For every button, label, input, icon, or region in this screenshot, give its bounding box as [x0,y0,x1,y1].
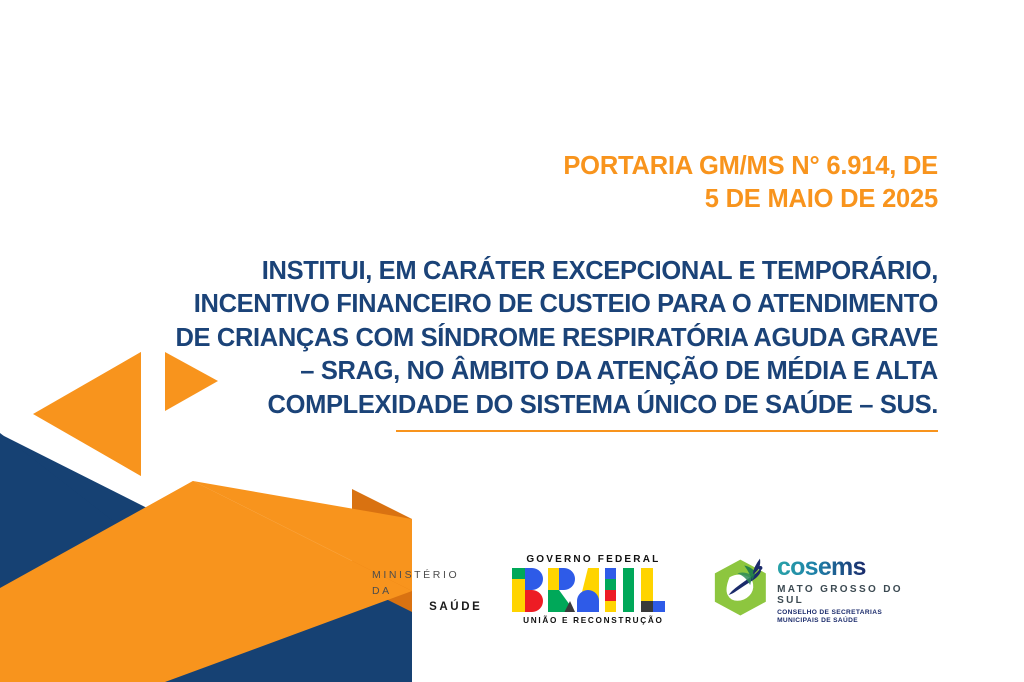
orange-band-left [0,481,352,682]
slide-canvas: PORTARIA GM/MS N° 6.914, DE 5 DE MAIO DE… [0,0,1024,682]
svg-text:cosems: cosems [777,553,866,581]
divider-rule [396,430,938,432]
triangle-left-large [34,352,141,476]
navy-diagonal-wedge [0,434,186,607]
document-summary: INSTITUI, EM CARÁTER EXCEPCIONAL E TEMPO… [150,217,938,423]
triangle-left-large-body [33,352,141,476]
government-federal-logo: GOVERNO FEDERAL [512,554,674,625]
government-logo-bottom-label: UNIÃO E RECONSTRUÇÃO [523,616,663,625]
page-title: PORTARIA GM/MS N° 6.914, DE 5 DE MAIO DE… [150,150,938,217]
text-block: PORTARIA GM/MS N° 6.914, DE 5 DE MAIO DE… [150,150,938,422]
navy-diagonal-wedge-upper [0,434,300,585]
cosems-text-group: cosems MATO GROSSO DO SUL CONSELHO DE SE… [777,553,932,626]
footer-logos: MINISTÉRIO DA SAÚDE GOVERNO FEDERAL [372,534,932,644]
government-logo-top-label: GOVERNO FEDERAL [526,554,660,565]
ministry-logo-line2: SAÚDE [429,599,482,617]
cosems-description: CONSELHO DE SECRETARIAS MUNICIPAIS DE SA… [777,609,932,626]
cosems-wordmark-icon: cosems [777,553,895,583]
ministry-of-health-logo: MINISTÉRIO DA SAÚDE [372,567,482,617]
navy-arrow-base [80,597,412,682]
navy-arrow-base-right [78,601,412,682]
brasil-wordmark-icon [512,568,674,612]
orange-isometric-band [0,481,412,682]
cosems-logo: cosems MATO GROSSO DO SUL CONSELHO DE SE… [708,553,932,626]
hexagon-bird-map-icon [708,554,773,624]
ministry-logo-line1: MINISTÉRIO DA [372,567,482,600]
cosems-state-label: MATO GROSSO DO SUL [777,584,932,606]
navy-wedge-fill [0,433,230,612]
